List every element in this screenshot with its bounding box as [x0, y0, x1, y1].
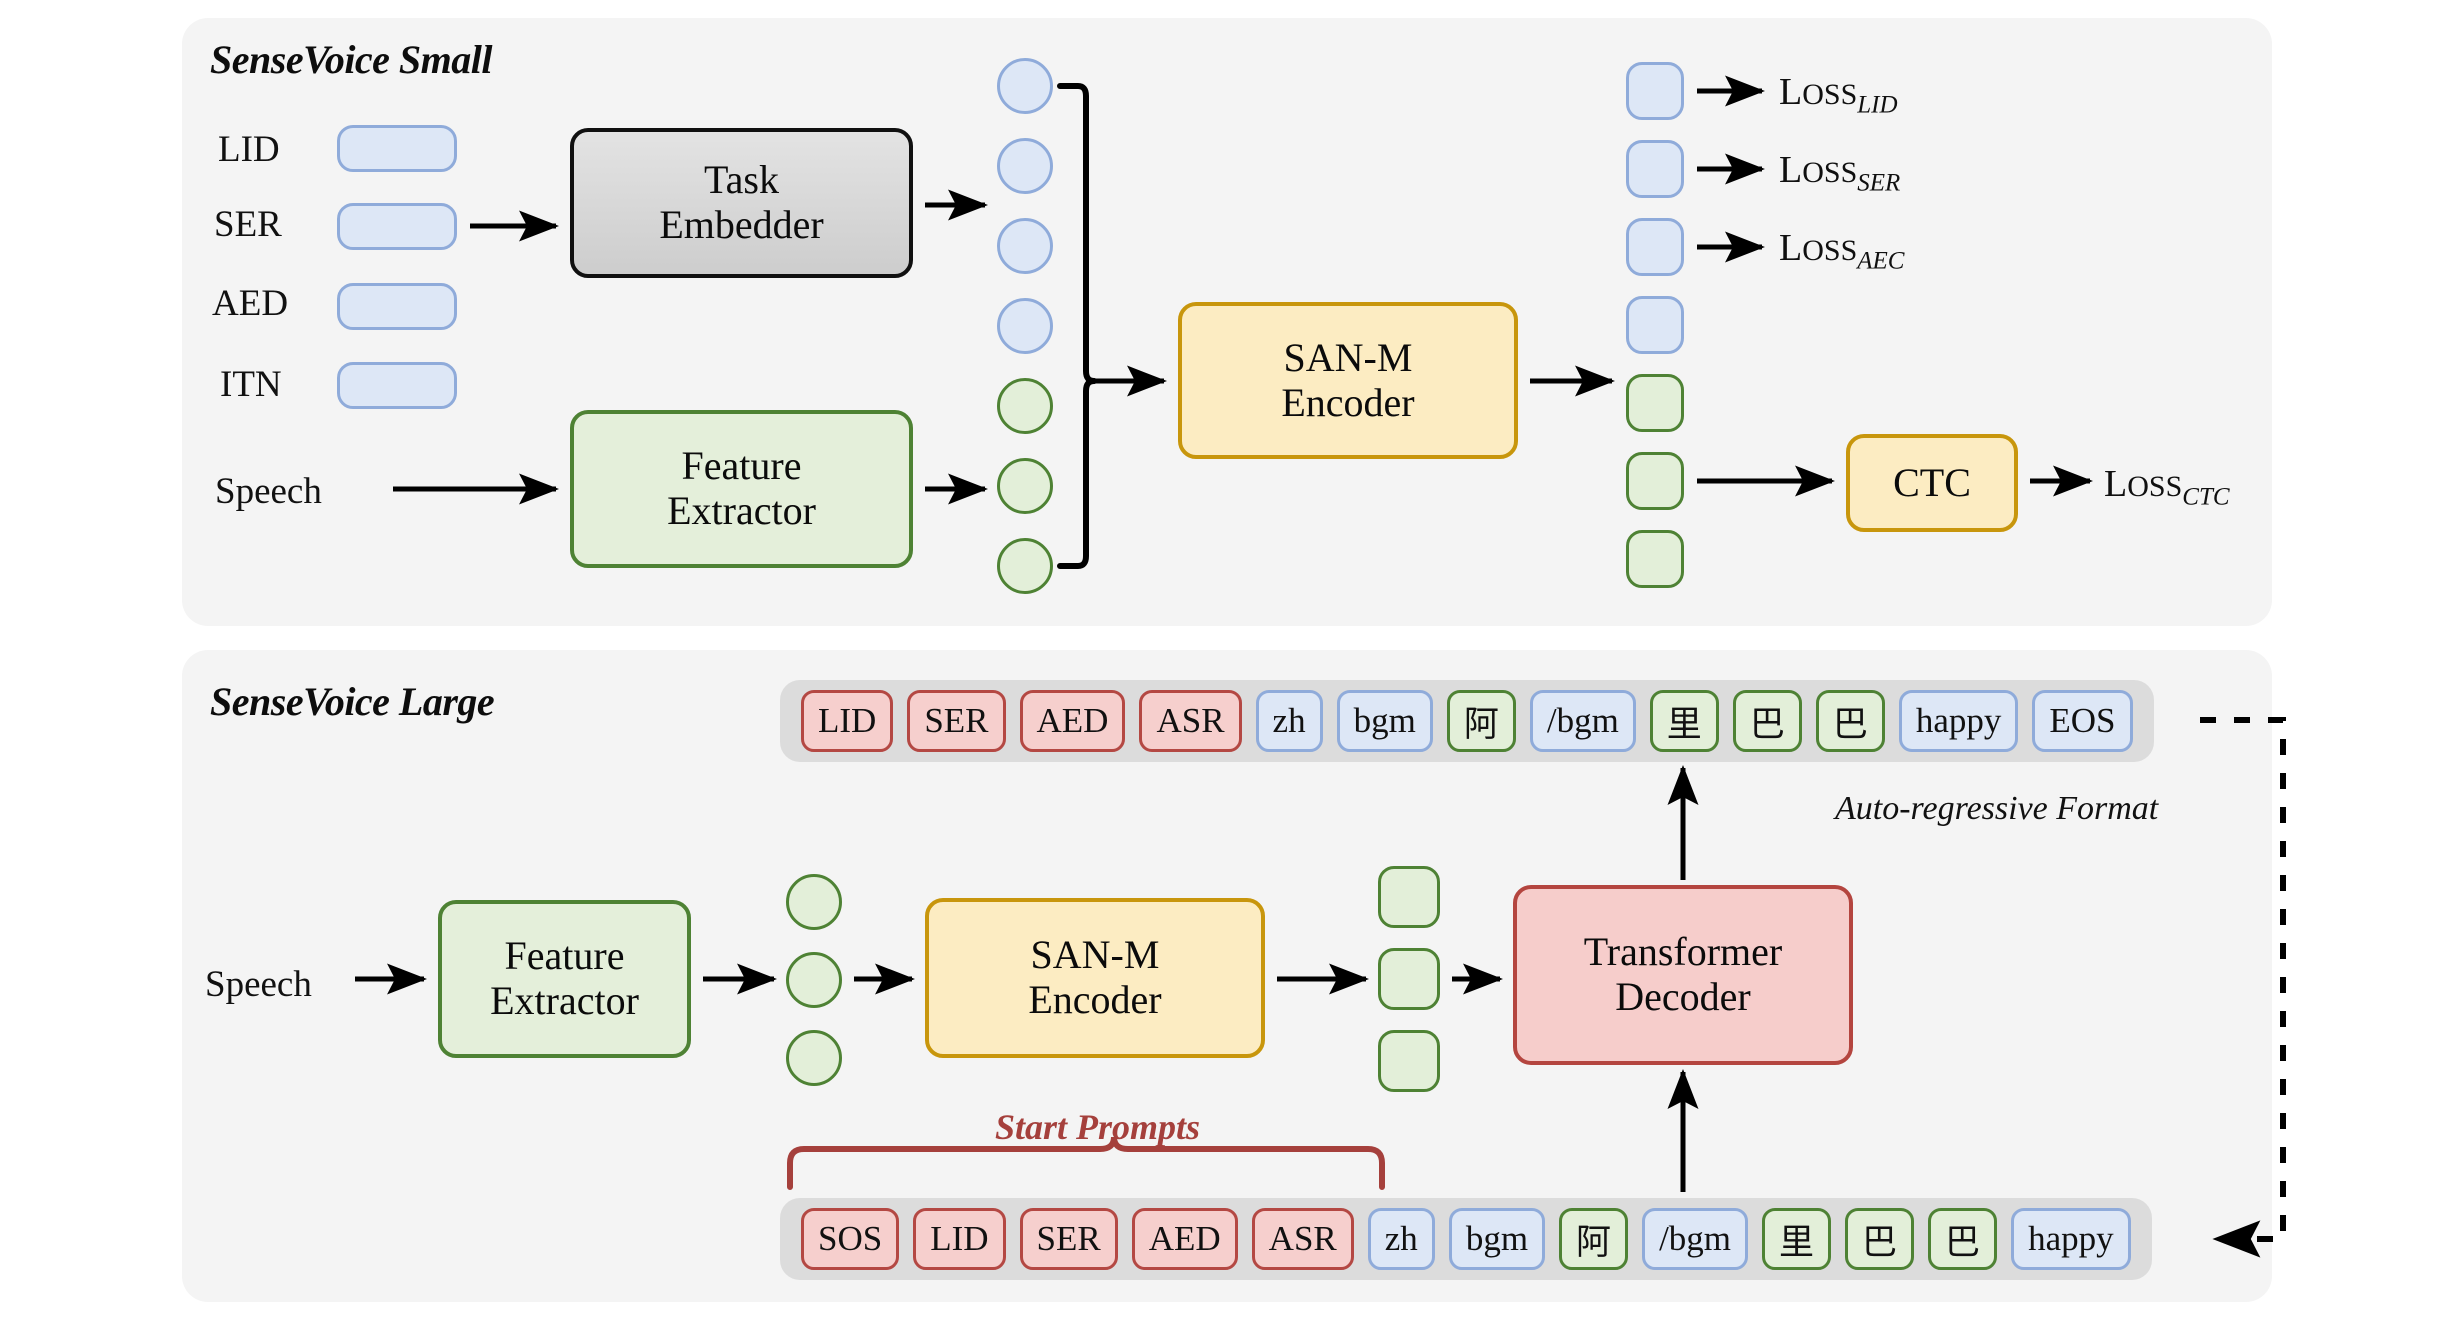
output-token-label-7: /bgm [1547, 701, 1619, 741]
output-token-label-3: ASR [1156, 701, 1224, 741]
feature-extractor-box-small: Feature Extractor [570, 410, 913, 568]
feature-extractor-label-small: Feature Extractor [667, 444, 816, 534]
ctc-box: CTC [1846, 434, 2018, 532]
input-token-9[interactable]: 里 [1762, 1208, 1831, 1270]
input-token-label-7: 阿 [1576, 1214, 1611, 1265]
output-token-12[interactable]: EOS [2032, 690, 2132, 752]
task-label-lid: LID [218, 128, 280, 171]
output-token-4[interactable]: zh [1256, 690, 1323, 752]
loss-aec-label: LOSSAEC [1779, 226, 1904, 276]
output-token-11[interactable]: happy [1899, 690, 2019, 752]
san-m-encoder-line2-small: Encoder [1281, 380, 1414, 425]
task-slot-aed [337, 283, 457, 330]
page-title-large: SenseVoice Large [210, 678, 494, 725]
encoder-output-square-3 [1378, 1030, 1440, 1092]
output-token-1[interactable]: SER [907, 690, 1005, 752]
input-token-3[interactable]: AED [1132, 1208, 1238, 1270]
loss-lid-name: LOSS [1779, 71, 1857, 113]
input-token-label-0: SOS [818, 1219, 882, 1259]
transformer-decoder-line2: Decoder [1615, 974, 1750, 1019]
san-m-encoder-label-small: SAN-M Encoder [1281, 336, 1414, 426]
feature-extractor-label-large: Feature Extractor [490, 934, 639, 1024]
encoder-output-square-1 [1378, 866, 1440, 928]
loss-lid-label: LOSSLID [1779, 70, 1898, 120]
feature-extractor-line2-small: Extractor [667, 488, 816, 533]
output-token-10[interactable]: 巴 [1816, 690, 1885, 752]
output-token-label-9: 巴 [1750, 696, 1785, 747]
san-m-encoder-line1-large: SAN-M [1031, 932, 1160, 977]
feature-extractor-line1-small: Feature [682, 443, 802, 488]
task-embedder-line1: Task [704, 157, 779, 202]
transformer-decoder-line1: Transformer [1584, 929, 1783, 974]
embedding-circle-green-1 [997, 378, 1053, 434]
loss-ctc-name: LOSS [2104, 463, 2182, 505]
output-token-label-4: zh [1273, 701, 1306, 741]
output-token-0[interactable]: LID [801, 690, 893, 752]
san-m-encoder-line1-small: SAN-M [1284, 335, 1413, 380]
input-token-label-12: happy [2028, 1219, 2114, 1259]
ctc-label: CTC [1893, 461, 1971, 506]
embedding-circle-blue-3 [997, 218, 1053, 274]
speech-label-large: Speech [205, 963, 312, 1006]
task-embedder-label: Task Embedder [659, 158, 823, 248]
embedding-circle-green-3 [997, 538, 1053, 594]
embedding-circle-green-2 [997, 458, 1053, 514]
input-token-2[interactable]: SER [1020, 1208, 1118, 1270]
speech-label-small: Speech [215, 470, 322, 513]
output-token-label-10: 巴 [1833, 696, 1868, 747]
feature-extractor-box-large: Feature Extractor [438, 900, 691, 1058]
input-token-8[interactable]: /bgm [1642, 1208, 1748, 1270]
start-prompts-label: Start Prompts [995, 1106, 1200, 1148]
input-token-5[interactable]: zh [1368, 1208, 1435, 1270]
output-token-label-6: 阿 [1464, 696, 1499, 747]
output-square-blue-3 [1626, 218, 1684, 276]
san-m-encoder-label-large: SAN-M Encoder [1028, 933, 1161, 1023]
output-token-label-8: 里 [1667, 696, 1702, 747]
san-m-encoder-box-small: SAN-M Encoder [1178, 302, 1518, 459]
task-slot-ser [337, 203, 457, 250]
task-label-aed: AED [212, 282, 288, 325]
page-title-small: SenseVoice Small [210, 36, 492, 83]
encoder-input-circle-1 [786, 874, 842, 930]
output-token-label-1: SER [924, 701, 988, 741]
output-square-green-2 [1626, 452, 1684, 510]
input-token-label-9: 里 [1779, 1214, 1814, 1265]
input-token-6[interactable]: bgm [1449, 1208, 1545, 1270]
embedding-circle-blue-2 [997, 138, 1053, 194]
transformer-decoder-label: Transformer Decoder [1584, 930, 1783, 1020]
task-label-itn: ITN [220, 363, 282, 406]
input-token-7[interactable]: 阿 [1559, 1208, 1628, 1270]
output-token-label-11: happy [1916, 701, 2002, 741]
input-token-label-8: /bgm [1659, 1219, 1731, 1259]
encoder-output-square-2 [1378, 948, 1440, 1010]
loss-aec-name: LOSS [1779, 227, 1857, 269]
output-token-row: LIDSERAEDASRzhbgm阿/bgm里巴巴happyEOS [780, 680, 2154, 762]
output-token-3[interactable]: ASR [1139, 690, 1241, 752]
output-token-label-2: AED [1037, 701, 1109, 741]
input-token-1[interactable]: LID [913, 1208, 1005, 1270]
input-token-label-5: zh [1385, 1219, 1418, 1259]
encoder-input-circle-2 [786, 952, 842, 1008]
input-token-label-3: AED [1149, 1219, 1221, 1259]
input-token-label-4: ASR [1269, 1219, 1337, 1259]
encoder-input-circle-3 [786, 1030, 842, 1086]
input-token-label-10: 巴 [1862, 1214, 1897, 1265]
output-square-green-1 [1626, 374, 1684, 432]
output-square-blue-1 [1626, 62, 1684, 120]
input-token-4[interactable]: ASR [1252, 1208, 1354, 1270]
output-token-6[interactable]: 阿 [1447, 690, 1516, 752]
loss-lid-sub: LID [1857, 92, 1897, 119]
san-m-encoder-line2-large: Encoder [1028, 977, 1161, 1022]
output-token-9[interactable]: 巴 [1733, 690, 1802, 752]
input-token-10[interactable]: 巴 [1845, 1208, 1914, 1270]
embedding-circle-blue-1 [997, 58, 1053, 114]
input-token-label-1: LID [930, 1219, 988, 1259]
input-token-0[interactable]: SOS [801, 1208, 899, 1270]
output-token-label-5: bgm [1354, 701, 1416, 741]
input-token-11[interactable]: 巴 [1928, 1208, 1997, 1270]
loss-aec-sub: AEC [1857, 248, 1904, 275]
loss-ser-sub: SER [1857, 170, 1900, 197]
loss-ctc-sub: CTC [2182, 484, 2229, 511]
task-embedder-line2: Embedder [659, 202, 823, 247]
feature-extractor-line2-large: Extractor [490, 978, 639, 1023]
task-embedder-box: Task Embedder [570, 128, 913, 278]
output-token-label-0: LID [818, 701, 876, 741]
loss-ser-name: LOSS [1779, 149, 1857, 191]
output-token-8[interactable]: 里 [1650, 690, 1719, 752]
loss-ser-label: LOSSSER [1779, 148, 1900, 198]
transformer-decoder-box: Transformer Decoder [1513, 885, 1853, 1065]
task-label-ser: SER [214, 203, 282, 246]
feature-extractor-line1-large: Feature [505, 933, 625, 978]
input-token-label-11: 巴 [1945, 1214, 1980, 1265]
input-token-label-2: SER [1037, 1219, 1101, 1259]
output-token-7[interactable]: /bgm [1530, 690, 1636, 752]
task-slot-itn [337, 362, 457, 409]
output-token-label-12: EOS [2049, 701, 2115, 741]
auto-regressive-format-note: Auto-regressive Format [1835, 790, 2158, 828]
embedding-circle-blue-4 [997, 298, 1053, 354]
output-square-green-3 [1626, 530, 1684, 588]
input-token-12[interactable]: happy [2011, 1208, 2131, 1270]
output-square-blue-2 [1626, 140, 1684, 198]
input-token-label-6: bgm [1466, 1219, 1528, 1259]
output-square-blue-4 [1626, 296, 1684, 354]
san-m-encoder-box-large: SAN-M Encoder [925, 898, 1265, 1058]
loss-ctc-label: LOSSCTC [2104, 462, 2230, 512]
output-token-5[interactable]: bgm [1337, 690, 1433, 752]
task-slot-lid [337, 125, 457, 172]
output-token-2[interactable]: AED [1020, 690, 1126, 752]
input-token-row: SOSLIDSERAEDASRzhbgm阿/bgm里巴巴happy [780, 1198, 2152, 1280]
